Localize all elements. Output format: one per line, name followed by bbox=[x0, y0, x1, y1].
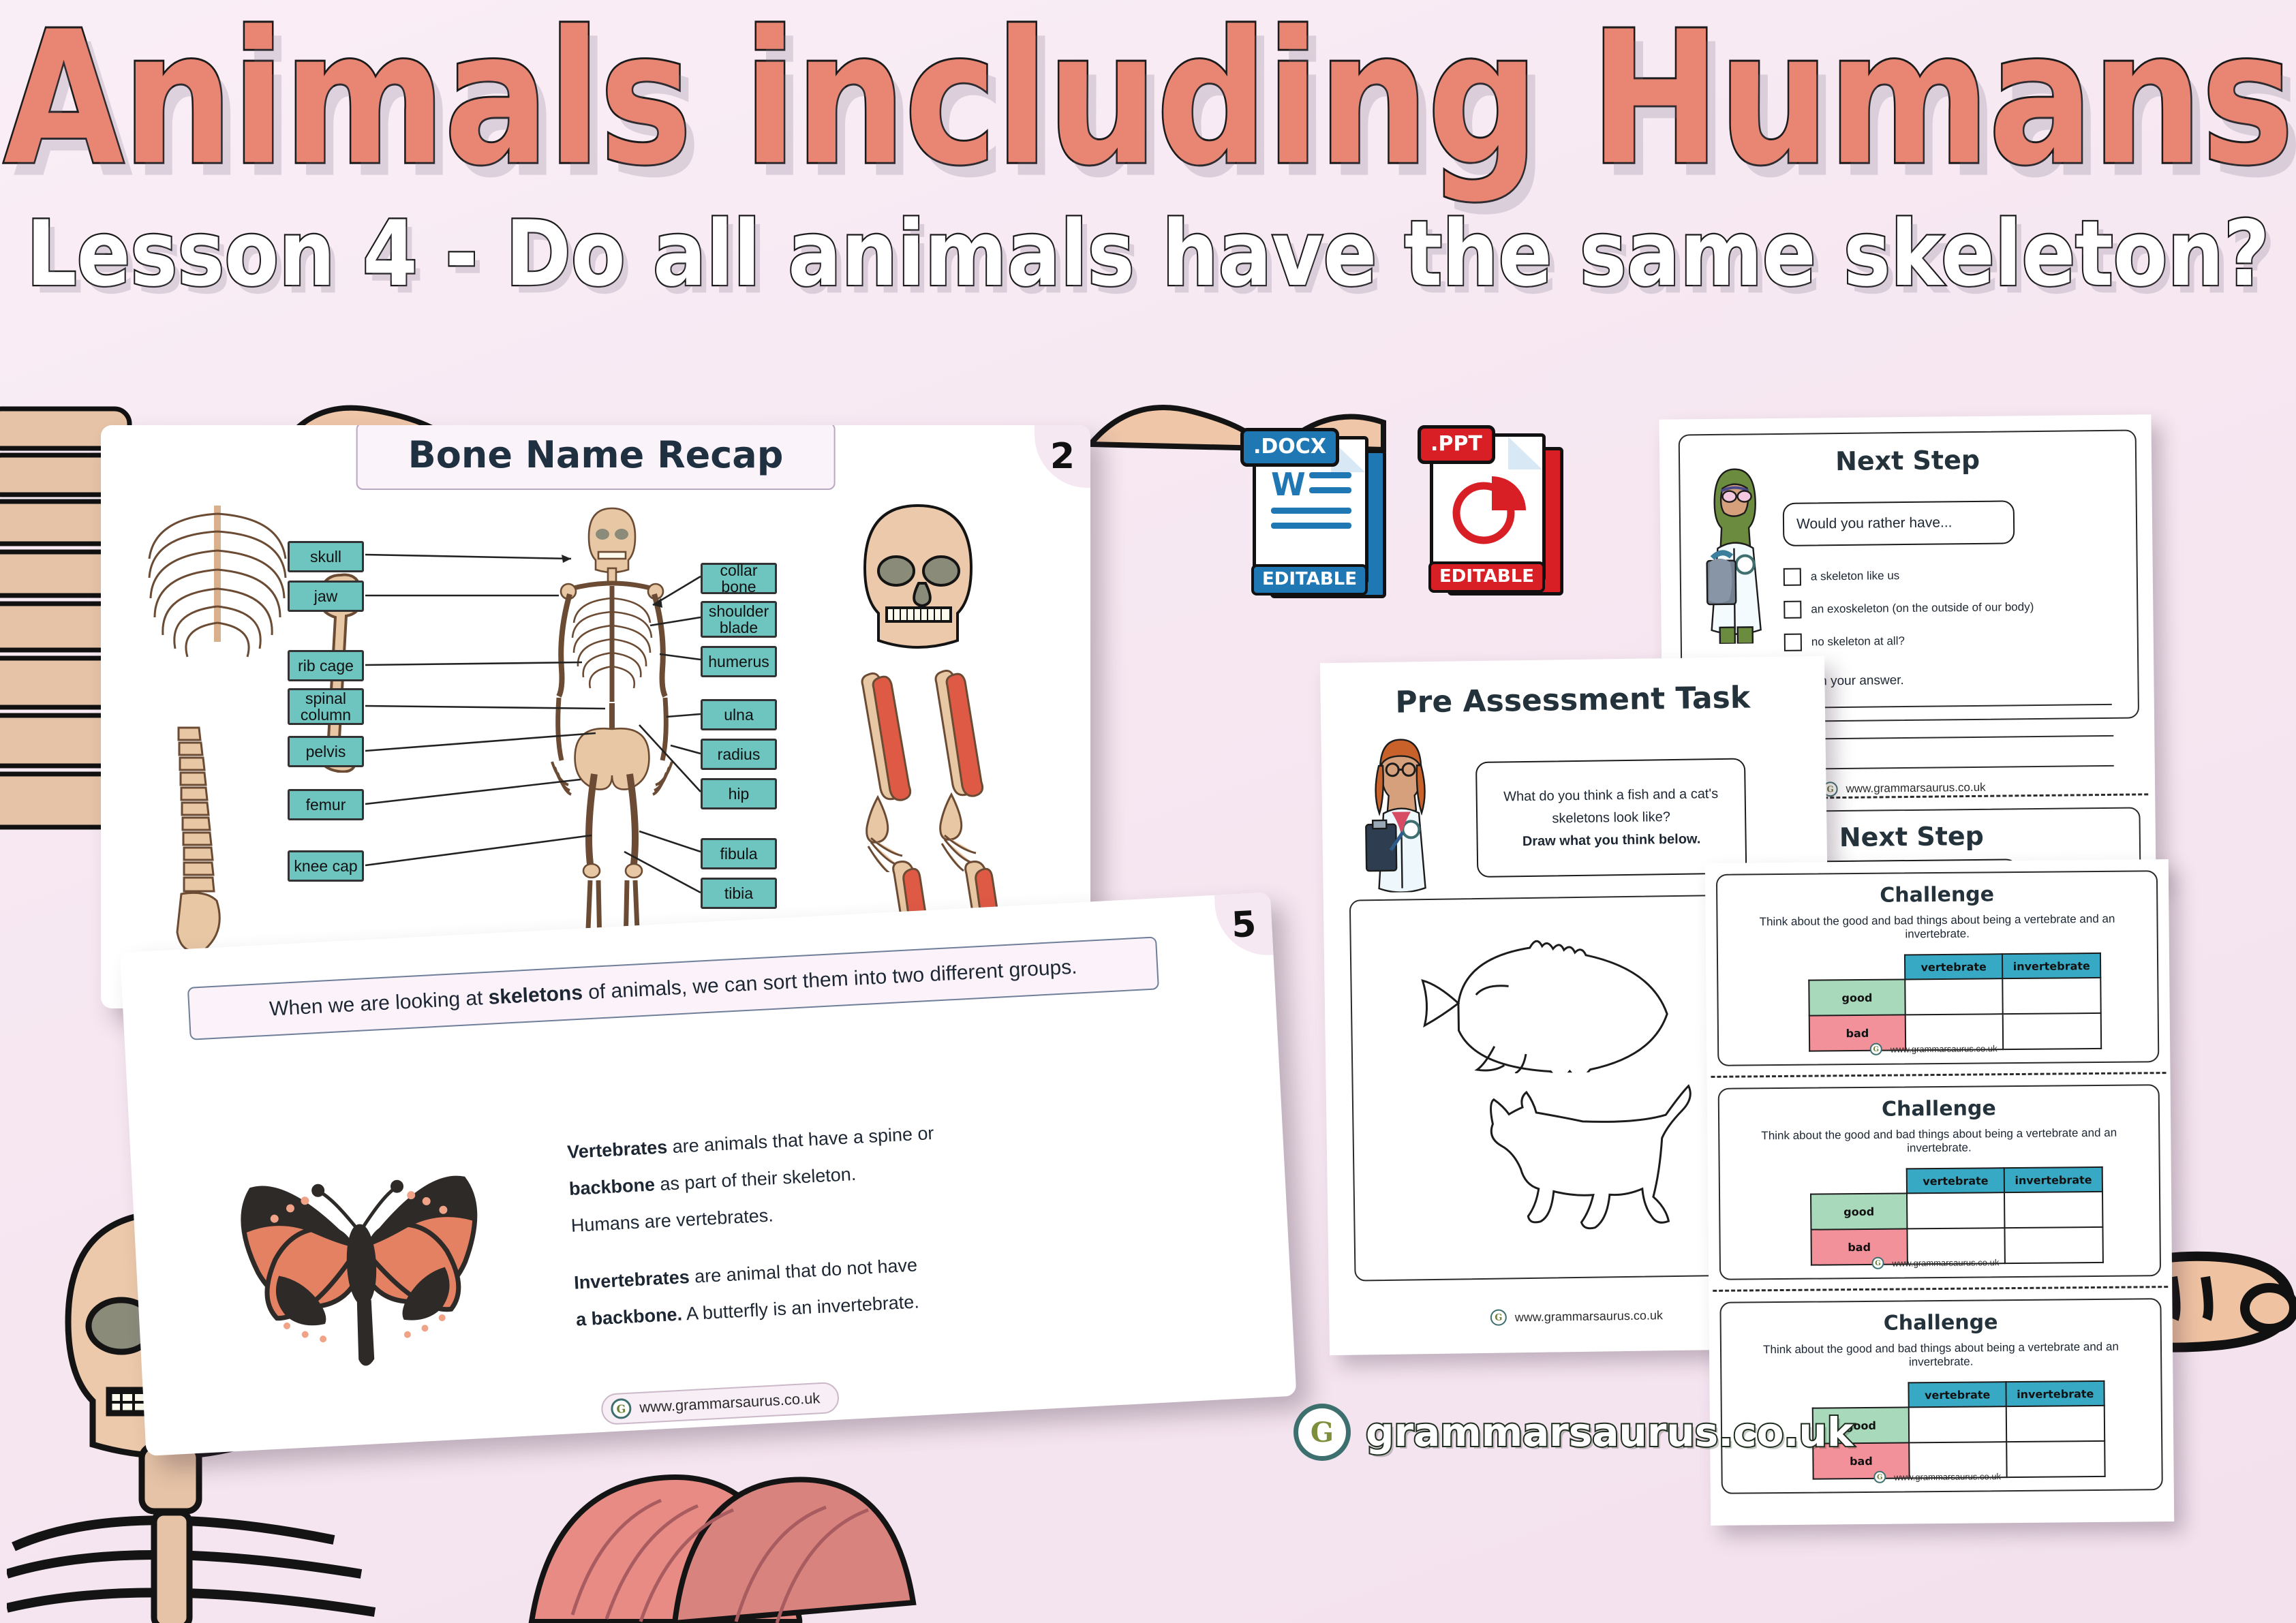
column-header-vertebrate: vertebrate bbox=[1907, 1168, 2005, 1193]
table-corner-cell bbox=[1811, 1169, 1907, 1194]
slide-title: Bone Name Recap bbox=[356, 425, 836, 490]
ppt-editable-tag: EDITABLE bbox=[1428, 561, 1545, 593]
butterfly-illustration bbox=[211, 1117, 510, 1390]
docx-type-tag: .DOCX bbox=[1240, 428, 1339, 467]
challenge-instruction: Think about the good and bad things abou… bbox=[1719, 1126, 2158, 1157]
vertebrates-text-1: are animals that have a spine or bbox=[667, 1123, 934, 1157]
grammarsaurus-logo-icon: G bbox=[611, 1398, 632, 1420]
challenge-table[interactable]: vertebrate invertebrate good bad bbox=[1808, 953, 2102, 1052]
invertebrates-text-2: A butterfly is an invertebrate. bbox=[682, 1291, 919, 1324]
challenge-card-3: Challenge Think about the good and bad t… bbox=[1719, 1298, 2162, 1494]
backbone-term: backbone bbox=[568, 1174, 655, 1199]
docx-file-badge[interactable]: W .DOCX EDITABLE bbox=[1247, 431, 1397, 601]
footer-url: www.grammarsaurus.co.uk bbox=[1515, 1308, 1663, 1325]
banner-text-bold: skeletons bbox=[488, 982, 583, 1009]
footer-url: www.grammarsaurus.co.uk bbox=[1892, 1257, 1999, 1268]
page-title-block: Animals including Humans Lesson 4 - Do a… bbox=[0, 7, 2296, 294]
grammarsaurus-logo-icon: G bbox=[1490, 1309, 1507, 1325]
pre-assessment-speech-bubble: What do you think a fish and a cat's ske… bbox=[1475, 758, 1747, 878]
row-header-good: good bbox=[1811, 1193, 1907, 1229]
cell-bad-invertebrate[interactable] bbox=[2003, 1013, 2101, 1049]
cat-outline-icon bbox=[1412, 1077, 1734, 1252]
footer-url: www.grammarsaurus.co.uk bbox=[1891, 1043, 1997, 1054]
invertebrates-text-1: are animal that do not have bbox=[689, 1254, 918, 1286]
column-header-invertebrate: invertebrate bbox=[2006, 1381, 2104, 1406]
a-backbone-term: a backbone. bbox=[575, 1304, 682, 1330]
banner-text-pre: When we are looking at bbox=[269, 987, 489, 1021]
docx-editable-tag: EDITABLE bbox=[1251, 564, 1368, 596]
vertebrate-definition-text: Vertebrates are animals that have a spin… bbox=[566, 1111, 1013, 1338]
next-step-option-2[interactable]: an exoskeleton (on the outside of our bo… bbox=[1784, 598, 2034, 619]
challenge-table[interactable]: vertebrate invertebrate good bad bbox=[1811, 1380, 2105, 1480]
cell-good-invertebrate[interactable] bbox=[2006, 1406, 2104, 1442]
sheet-footer: G www.grammarsaurus.co.uk bbox=[1865, 1466, 2019, 1487]
column-header-vertebrate: vertebrate bbox=[1908, 1382, 2006, 1407]
bubble-line-1: What do you think a fish and a cat's bbox=[1503, 786, 1718, 805]
column-header-vertebrate: vertebrate bbox=[1905, 954, 2003, 979]
challenge-title: Challenge bbox=[1717, 881, 2156, 909]
next-step-speech-bubble: Would you rather have... bbox=[1783, 500, 2015, 546]
pre-assessment-title: Pre Assessment Task bbox=[1320, 679, 1825, 721]
banner-text-post: of animals, we can sort them into two di… bbox=[582, 956, 1077, 1004]
slide-footer-badge: G www.grammarsaurus.co.uk bbox=[600, 1382, 840, 1425]
grammarsaurus-logo-icon: G bbox=[1871, 1257, 1884, 1269]
option-label: an exoskeleton (on the outside of our bo… bbox=[1811, 600, 2034, 616]
option-label: no skeleton at all? bbox=[1811, 634, 1905, 649]
cell-good-vertebrate[interactable] bbox=[1907, 1192, 2005, 1228]
vertebrates-text-3: Humans are vertebrates. bbox=[570, 1205, 774, 1236]
grammarsaurus-logo-icon: G bbox=[1873, 1471, 1886, 1483]
checkbox-icon[interactable] bbox=[1784, 634, 1802, 651]
table-corner-cell bbox=[1809, 955, 1905, 980]
cell-bad-invertebrate[interactable] bbox=[2005, 1227, 2103, 1263]
bubble-line-3: Draw what you think below. bbox=[1522, 831, 1701, 850]
ppt-type-tag: .PPT bbox=[1418, 425, 1495, 464]
challenge-table[interactable]: vertebrate invertebrate good bad bbox=[1810, 1166, 2104, 1266]
next-step-option-1[interactable]: a skeleton like us bbox=[1784, 566, 2034, 586]
sheet-footer: G www.grammarsaurus.co.uk bbox=[1863, 1252, 2017, 1273]
scientist-redhead-illustration bbox=[1359, 735, 1441, 893]
invertebrates-term: Invertebrates bbox=[574, 1267, 690, 1293]
answer-line[interactable] bbox=[1784, 765, 2114, 770]
next-step-bubble-text: Would you rather have... bbox=[1796, 514, 1953, 532]
brand-name: grammarsaurus.co.uk bbox=[1366, 1409, 1853, 1455]
cut-line-separator bbox=[1711, 1072, 2166, 1078]
cut-line-separator bbox=[1713, 1286, 2168, 1292]
cell-bad-invertebrate[interactable] bbox=[2007, 1441, 2105, 1477]
cell-good-invertebrate[interactable] bbox=[2004, 1192, 2102, 1228]
page-subtitle: Lesson 4 - Do all animals have the same … bbox=[0, 202, 2296, 307]
bubble-line-2: skeletons look like? bbox=[1552, 809, 1670, 826]
brand-logo[interactable]: G grammarsaurus.co.uk bbox=[1294, 1404, 1853, 1461]
cell-good-invertebrate[interactable] bbox=[2003, 978, 2101, 1014]
footer-url: www.grammarsaurus.co.uk bbox=[639, 1389, 821, 1417]
scientist-hijab-illustration bbox=[1694, 461, 1776, 644]
checkbox-icon[interactable] bbox=[1784, 568, 1801, 586]
footer-url: www.grammarsaurus.co.uk bbox=[1894, 1471, 2001, 1482]
sheet-footer: G www.grammarsaurus.co.uk bbox=[1814, 776, 2003, 801]
row-header-good: good bbox=[1809, 979, 1905, 1015]
grammarsaurus-logo-icon: G bbox=[1870, 1043, 1882, 1055]
challenge-card-1: Challenge Think about the good and bad t… bbox=[1716, 870, 2159, 1066]
sorting-banner: When we are looking at skeletons of anim… bbox=[187, 936, 1159, 1040]
challenge-instruction: Think about the good and bad things abou… bbox=[1717, 912, 2156, 943]
page-title: Animals including Humans bbox=[0, 7, 2296, 190]
challenge-card-2: Challenge Think about the good and bad t… bbox=[1718, 1084, 2161, 1280]
footer-url: www.grammarsaurus.co.uk bbox=[1846, 781, 1985, 796]
column-header-invertebrate: invertebrate bbox=[2002, 953, 2100, 978]
challenge-title: Challenge bbox=[1719, 1095, 2158, 1123]
grammarsaurus-logo-icon: G bbox=[1294, 1404, 1351, 1461]
vertebrates-text-2: as part of their skeleton. bbox=[654, 1164, 857, 1194]
challenge-instruction: Think about the good and bad things abou… bbox=[1721, 1340, 2160, 1371]
cell-good-vertebrate[interactable] bbox=[1905, 978, 2003, 1015]
checkbox-icon[interactable] bbox=[1784, 601, 1801, 619]
sheet-footer: G www.grammarsaurus.co.uk bbox=[1862, 1038, 2015, 1060]
option-label: a skeleton like us bbox=[1811, 569, 1900, 583]
vertebrates-term: Vertebrates bbox=[566, 1137, 667, 1162]
column-header-invertebrate: invertebrate bbox=[2004, 1167, 2102, 1192]
slide-vertebrates-invertebrates[interactable]: 5 When we are looking at skeletons of an… bbox=[120, 893, 1296, 1456]
fish-outline-icon bbox=[1398, 914, 1687, 1075]
sheet-footer: G www.grammarsaurus.co.uk bbox=[1482, 1303, 1681, 1330]
slide-number-badge: 5 bbox=[1214, 893, 1274, 958]
ppt-file-badge[interactable]: .PPT EDITABLE bbox=[1424, 428, 1574, 598]
next-step-option-3[interactable]: no skeleton at all? bbox=[1784, 631, 2034, 651]
answer-line[interactable] bbox=[1785, 704, 2112, 709]
answer-line[interactable] bbox=[1784, 735, 2113, 740]
cell-good-vertebrate[interactable] bbox=[1909, 1406, 2007, 1442]
challenge-title: Challenge bbox=[1721, 1309, 2160, 1337]
svg-text:W: W bbox=[1271, 466, 1306, 503]
